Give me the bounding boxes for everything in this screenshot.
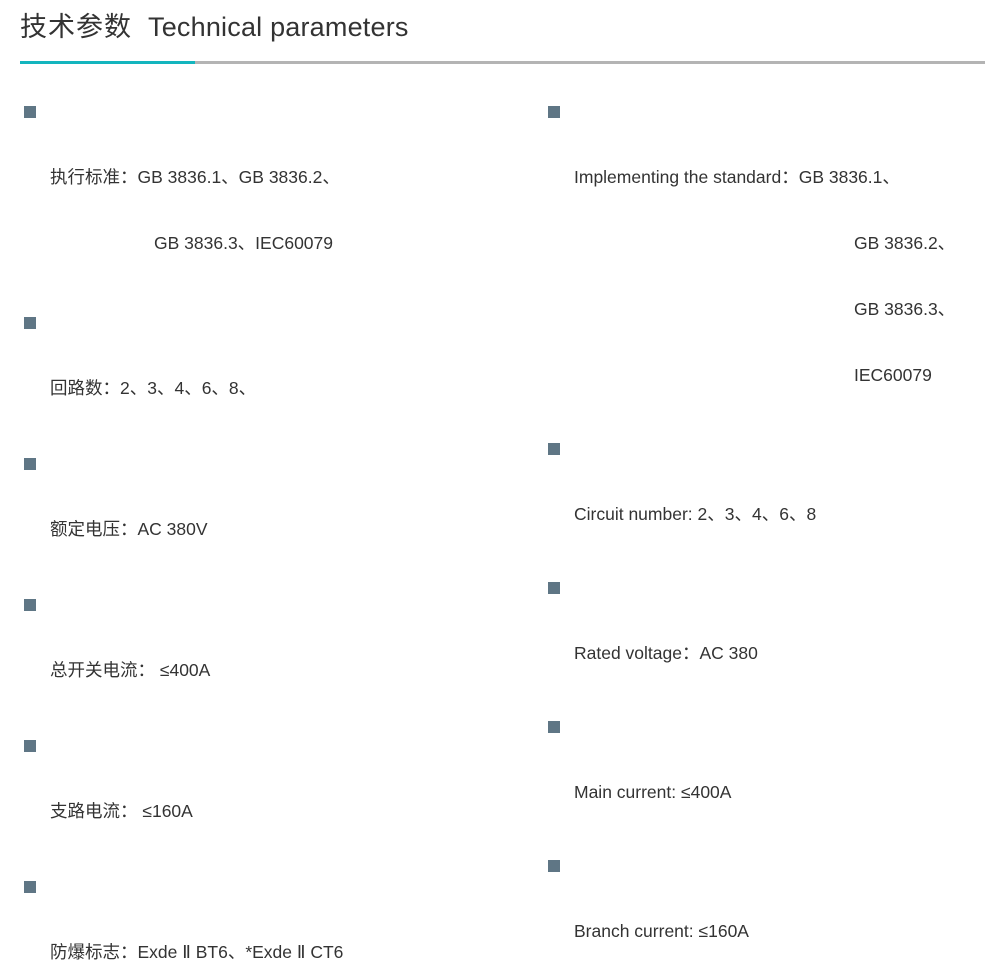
- list-item-line: Circuit number: 2、3、4、6、8: [574, 503, 996, 525]
- square-bullet-icon: [24, 599, 36, 611]
- list-item-line: Main current: ≤400A: [574, 781, 996, 803]
- square-bullet-icon: [24, 106, 36, 118]
- list-item-line: Branch current: ≤160A: [574, 920, 996, 942]
- square-bullet-icon: [24, 458, 36, 470]
- list-item-line: 回路数：2、3、4、6、8、: [50, 377, 522, 399]
- list-item: Circuit number: 2、3、4、6、8: [546, 437, 996, 569]
- square-bullet-icon: [548, 106, 560, 118]
- list-item-line: Rated voltage：AC 380: [574, 642, 996, 664]
- square-bullet-icon: [24, 740, 36, 752]
- list-item-line: Implementing the standard：GB 3836.1、: [574, 166, 996, 188]
- page-header: 技术参数 Technical parameters: [20, 14, 980, 54]
- list-item-line: GB 3836.3、: [574, 298, 996, 320]
- list-item-line: 总开关电流： ≤400A: [50, 659, 522, 681]
- square-bullet-icon: [548, 721, 560, 733]
- list-item: Rated voltage：AC 380: [546, 576, 996, 708]
- list-item: 执行标准：GB 3836.1、GB 3836.2、 GB 3836.3、IEC6…: [22, 100, 522, 298]
- list-item: Implementing the standard：GB 3836.1、 GB …: [546, 100, 996, 430]
- header-divider: [20, 61, 985, 64]
- list-item-line: IEC60079: [574, 364, 996, 386]
- list-item-line: 支路电流： ≤160A: [50, 800, 522, 822]
- list-item-line: GB 3836.3、IEC60079: [50, 232, 522, 254]
- header-divider-accent: [20, 61, 195, 64]
- spec-list-chinese: 执行标准：GB 3836.1、GB 3836.2、 GB 3836.3、IEC6…: [22, 100, 522, 968]
- square-bullet-icon: [548, 860, 560, 872]
- list-item-line: GB 3836.2、: [574, 232, 996, 254]
- list-item: Branch current: ≤160A: [546, 854, 996, 968]
- page-title-en: Technical parameters: [148, 14, 409, 41]
- square-bullet-icon: [24, 881, 36, 893]
- list-item: 额定电压：AC 380V: [22, 452, 522, 584]
- list-item: 支路电流： ≤160A: [22, 734, 522, 866]
- square-bullet-icon: [24, 317, 36, 329]
- technical-parameters-page: 技术参数 Technical parameters 执行标准：GB 3836.1…: [0, 0, 1000, 484]
- list-item-line: 防爆标志：Exde Ⅱ BT6、*Exde Ⅱ CT6: [50, 941, 522, 963]
- square-bullet-icon: [548, 582, 560, 594]
- square-bullet-icon: [548, 443, 560, 455]
- list-item: Main current: ≤400A: [546, 715, 996, 847]
- list-item-line: 执行标准：GB 3836.1、GB 3836.2、: [50, 166, 522, 188]
- page-title-cn: 技术参数: [20, 14, 132, 41]
- list-item-line: 额定电压：AC 380V: [50, 518, 522, 540]
- list-item: 回路数：2、3、4、6、8、: [22, 311, 522, 443]
- spec-list-english: Implementing the standard：GB 3836.1、 GB …: [546, 100, 996, 968]
- list-item: 防爆标志：Exde Ⅱ BT6、*Exde Ⅱ CT6: [22, 875, 522, 968]
- list-item: 总开关电流： ≤400A: [22, 593, 522, 725]
